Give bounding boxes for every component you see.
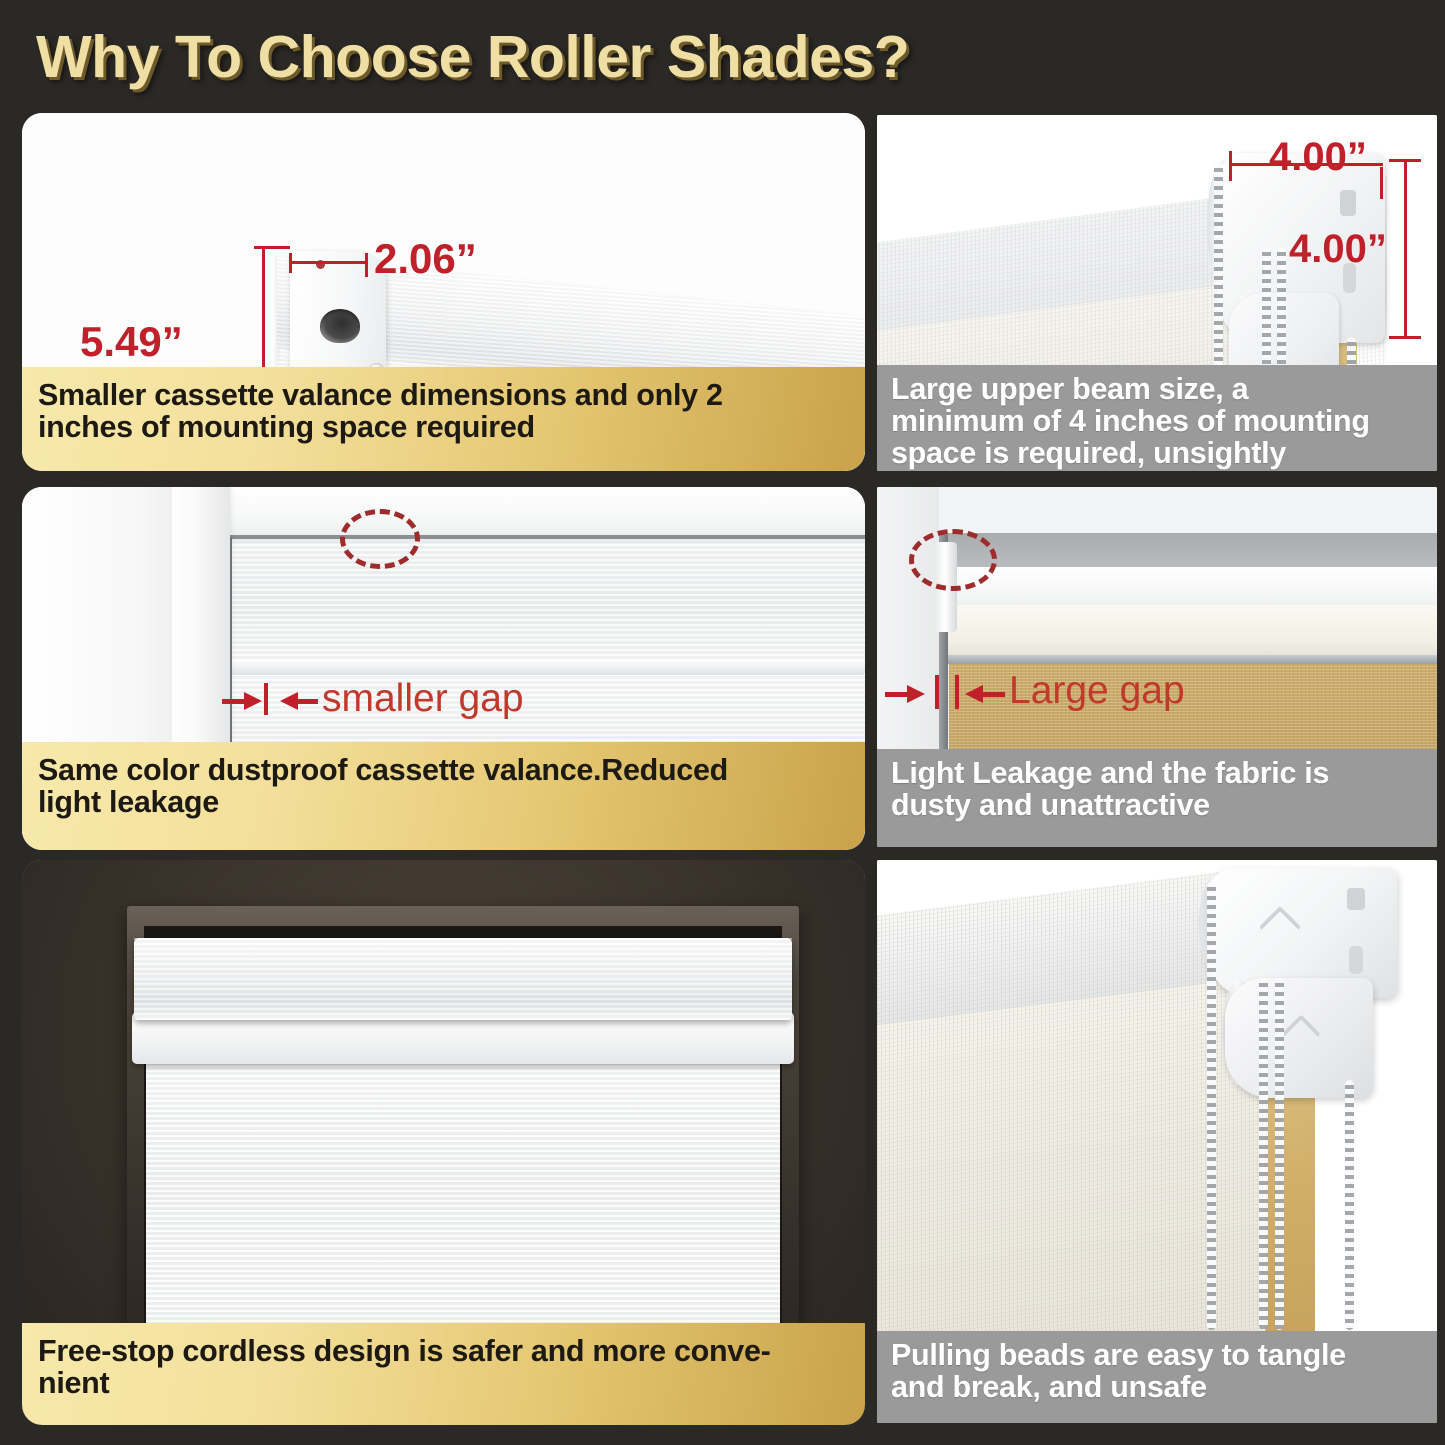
caption-theirs-beaded-chain: Pulling beads are easy to tangle and bre… xyxy=(877,1331,1437,1423)
gap-callout-label: smaller gap xyxy=(322,677,524,721)
dimension-label-height: 5.49” xyxy=(80,318,183,366)
panel-theirs-light-leakage: Large gap Light Leakage and the fabric i… xyxy=(877,487,1437,847)
caption-theirs-light-leakage: Light Leakage and the fabric is dusty an… xyxy=(877,749,1437,847)
caption-ours-cordless: Free-stop cordless design is safer and m… xyxy=(22,1323,865,1425)
caption-line: Large upper beam size, a xyxy=(891,373,1425,405)
caption-line: minimum of 4 inches of mounting xyxy=(891,405,1425,437)
gap-callout-label: Large gap xyxy=(1009,669,1185,713)
bead-chain xyxy=(1259,978,1268,1330)
caption-line: Pulling beads are easy to tangle xyxy=(891,1339,1425,1371)
gap-highlight-ellipse xyxy=(909,529,997,591)
caption-line: Free-stop cordless design is safer and m… xyxy=(38,1335,849,1367)
page-title: Why To Choose Roller Shades? xyxy=(36,18,1416,96)
bead-chain xyxy=(1277,247,1286,372)
panel-theirs-beam-size: 4.00” 4.00” Large upper beam size, a min… xyxy=(877,115,1437,471)
bead-chain xyxy=(1207,882,1216,1330)
caption-ours-cassette-size: Smaller cassette valance dimensions and … xyxy=(22,367,865,471)
infographic-page: Why To Choose Roller Shades? 2.06” 5.49”… xyxy=(0,0,1445,1445)
bead-chain xyxy=(1345,1080,1354,1330)
dimension-label-width: 2.06” xyxy=(374,235,477,283)
caption-line: nient xyxy=(38,1367,849,1399)
panel-ours-cordless: Free-stop cordless design is safer and m… xyxy=(22,860,865,1425)
caption-theirs-beam-size: Large upper beam size, a minimum of 4 in… xyxy=(877,365,1437,471)
caption-line: space is required, unsightly xyxy=(891,437,1425,469)
panel-ours-cassette-size: 2.06” 5.49” Smaller cassette valance dim… xyxy=(22,113,865,471)
dimension-label-height: 4.00” xyxy=(1289,227,1387,272)
bead-chain xyxy=(1275,978,1284,1330)
bead-chain xyxy=(1214,163,1223,368)
caption-line: Smaller cassette valance dimensions and … xyxy=(38,379,849,411)
panel-ours-light-leakage: smaller gap Same color dustproof cassett… xyxy=(22,487,865,850)
dimension-label-width: 4.00” xyxy=(1269,135,1367,180)
gap-highlight-ellipse xyxy=(340,509,420,569)
caption-line: dusty and unattractive xyxy=(891,789,1425,821)
caption-ours-light-leakage: Same color dustproof cassette valance.Re… xyxy=(22,742,865,850)
panel-theirs-beaded-chain: Pulling beads are easy to tangle and bre… xyxy=(877,860,1437,1423)
caption-line: inches of mounting space required xyxy=(38,411,849,443)
caption-line: light leakage xyxy=(38,786,849,818)
caption-line: Light Leakage and the fabric is xyxy=(891,757,1425,789)
caption-line: and break, and unsafe xyxy=(891,1371,1425,1403)
caption-line: Same color dustproof cassette valance.Re… xyxy=(38,754,849,786)
bead-chain xyxy=(1262,247,1271,372)
